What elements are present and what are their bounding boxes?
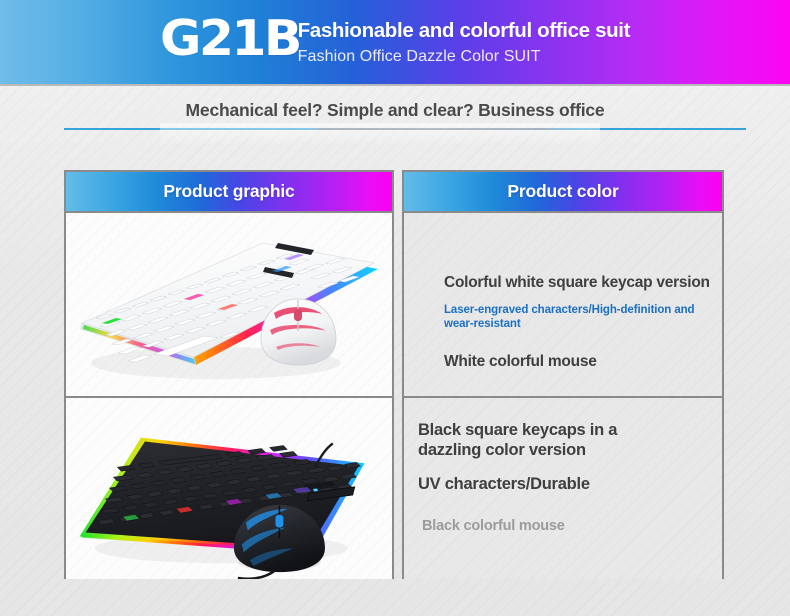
black-variant-feature: UV characters/Durable: [418, 474, 590, 494]
panel-product-graphic-body: [66, 213, 392, 579]
white-variant-mouse: White colorful mouse: [444, 352, 597, 371]
black-variant-name: Black square keycaps in a dazzling color…: [418, 420, 668, 460]
panel-product-graphic-header: Product graphic: [66, 172, 392, 213]
white-variant-feature: Laser-engraved characters/High-definitio…: [444, 303, 704, 331]
panel-product-graphic-title: Product graphic: [163, 181, 294, 202]
content-panels: Product graphic: [0, 0, 790, 616]
color-variant-black: Black square keycaps in a dazzling color…: [404, 396, 722, 579]
panel-product-color: Product color Colorful white square keyc…: [402, 170, 724, 579]
panel-product-color-body: Colorful white square keycap version Las…: [404, 213, 722, 579]
product-infographic-page: G21B Fashionable and colorful office sui…: [0, 0, 790, 616]
black-variant-mouse: Black colorful mouse: [422, 518, 565, 534]
panel-product-color-title: Product color: [507, 181, 618, 202]
black-variant-text-block: Black square keycaps in a dazzling color…: [404, 398, 722, 579]
product-image-white-set: [66, 213, 392, 396]
white-variant-text-block: Colorful white square keycap version Las…: [404, 213, 722, 396]
white-variant-name: Colorful white square keycap version: [444, 273, 710, 292]
product-image-black-set: [66, 396, 392, 579]
color-variant-white: Colorful white square keycap version Las…: [404, 213, 722, 396]
black-keyboard-illustration: [66, 398, 392, 579]
panel-product-graphic: Product graphic: [64, 170, 394, 579]
white-keyboard-illustration: [66, 213, 392, 396]
panel-product-color-header: Product color: [404, 172, 722, 213]
